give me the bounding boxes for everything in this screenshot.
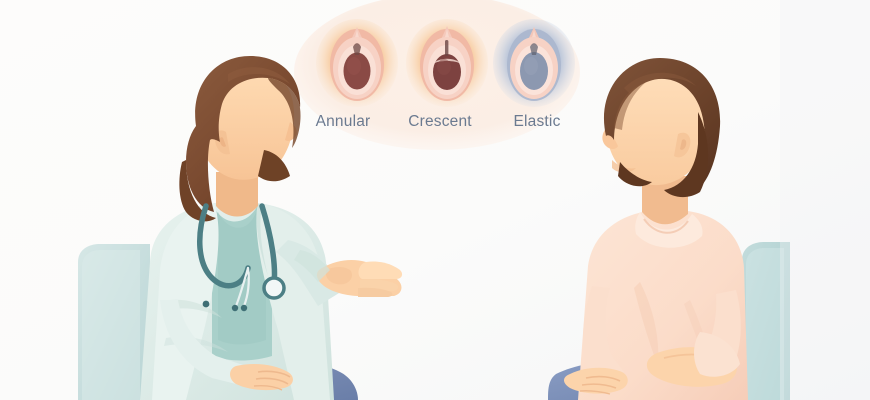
doctor-chair <box>78 244 150 400</box>
annular-hymen-icon <box>316 19 398 107</box>
crescent-hymen-icon <box>406 19 488 107</box>
scene-artwork <box>0 0 870 400</box>
stethoscope-chestpiece <box>264 278 284 298</box>
elastic-hymen-icon <box>493 19 575 107</box>
illustration-scene: Annular Crescent Elastic <box>0 0 870 400</box>
